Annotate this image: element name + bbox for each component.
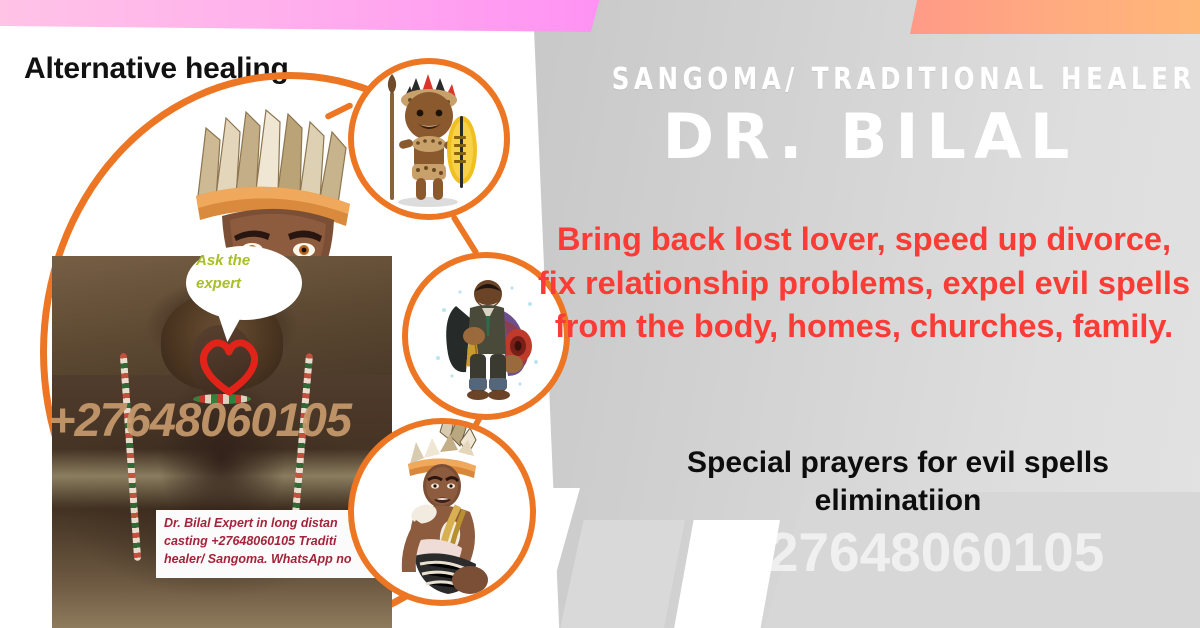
top-pink-bar — [0, 0, 600, 32]
caption-line-2: casting +27648060105 Traditi — [164, 533, 374, 551]
caption-line-1: Dr. Bilal Expert in long distan — [164, 515, 374, 533]
zulu-warrior-illustration — [348, 58, 510, 220]
special-prayers-copy: Special prayers for evil spells eliminat… — [600, 444, 1196, 521]
caption-line-3: healer/ Sangoma. WhatsApp no — [164, 551, 374, 569]
connector-stroke-upper — [450, 214, 479, 256]
kneeling-sangoma-illustration — [348, 418, 536, 606]
kicker-heading: SANGOMA/ TRADITIONAL HEALER — [612, 62, 1129, 97]
speech-bubble-label: Ask the expert — [196, 250, 296, 295]
services-copy: Bring back lost lover, speed up divorce,… — [534, 218, 1194, 349]
brand-name: DR. BILAL — [555, 100, 1185, 173]
heart-outline-icon — [196, 334, 262, 396]
poster-canvas: Alternative healing — [0, 0, 1200, 628]
top-salmon-bar — [910, 0, 1200, 34]
phone-watermark: +27648060105 — [640, 520, 1200, 584]
